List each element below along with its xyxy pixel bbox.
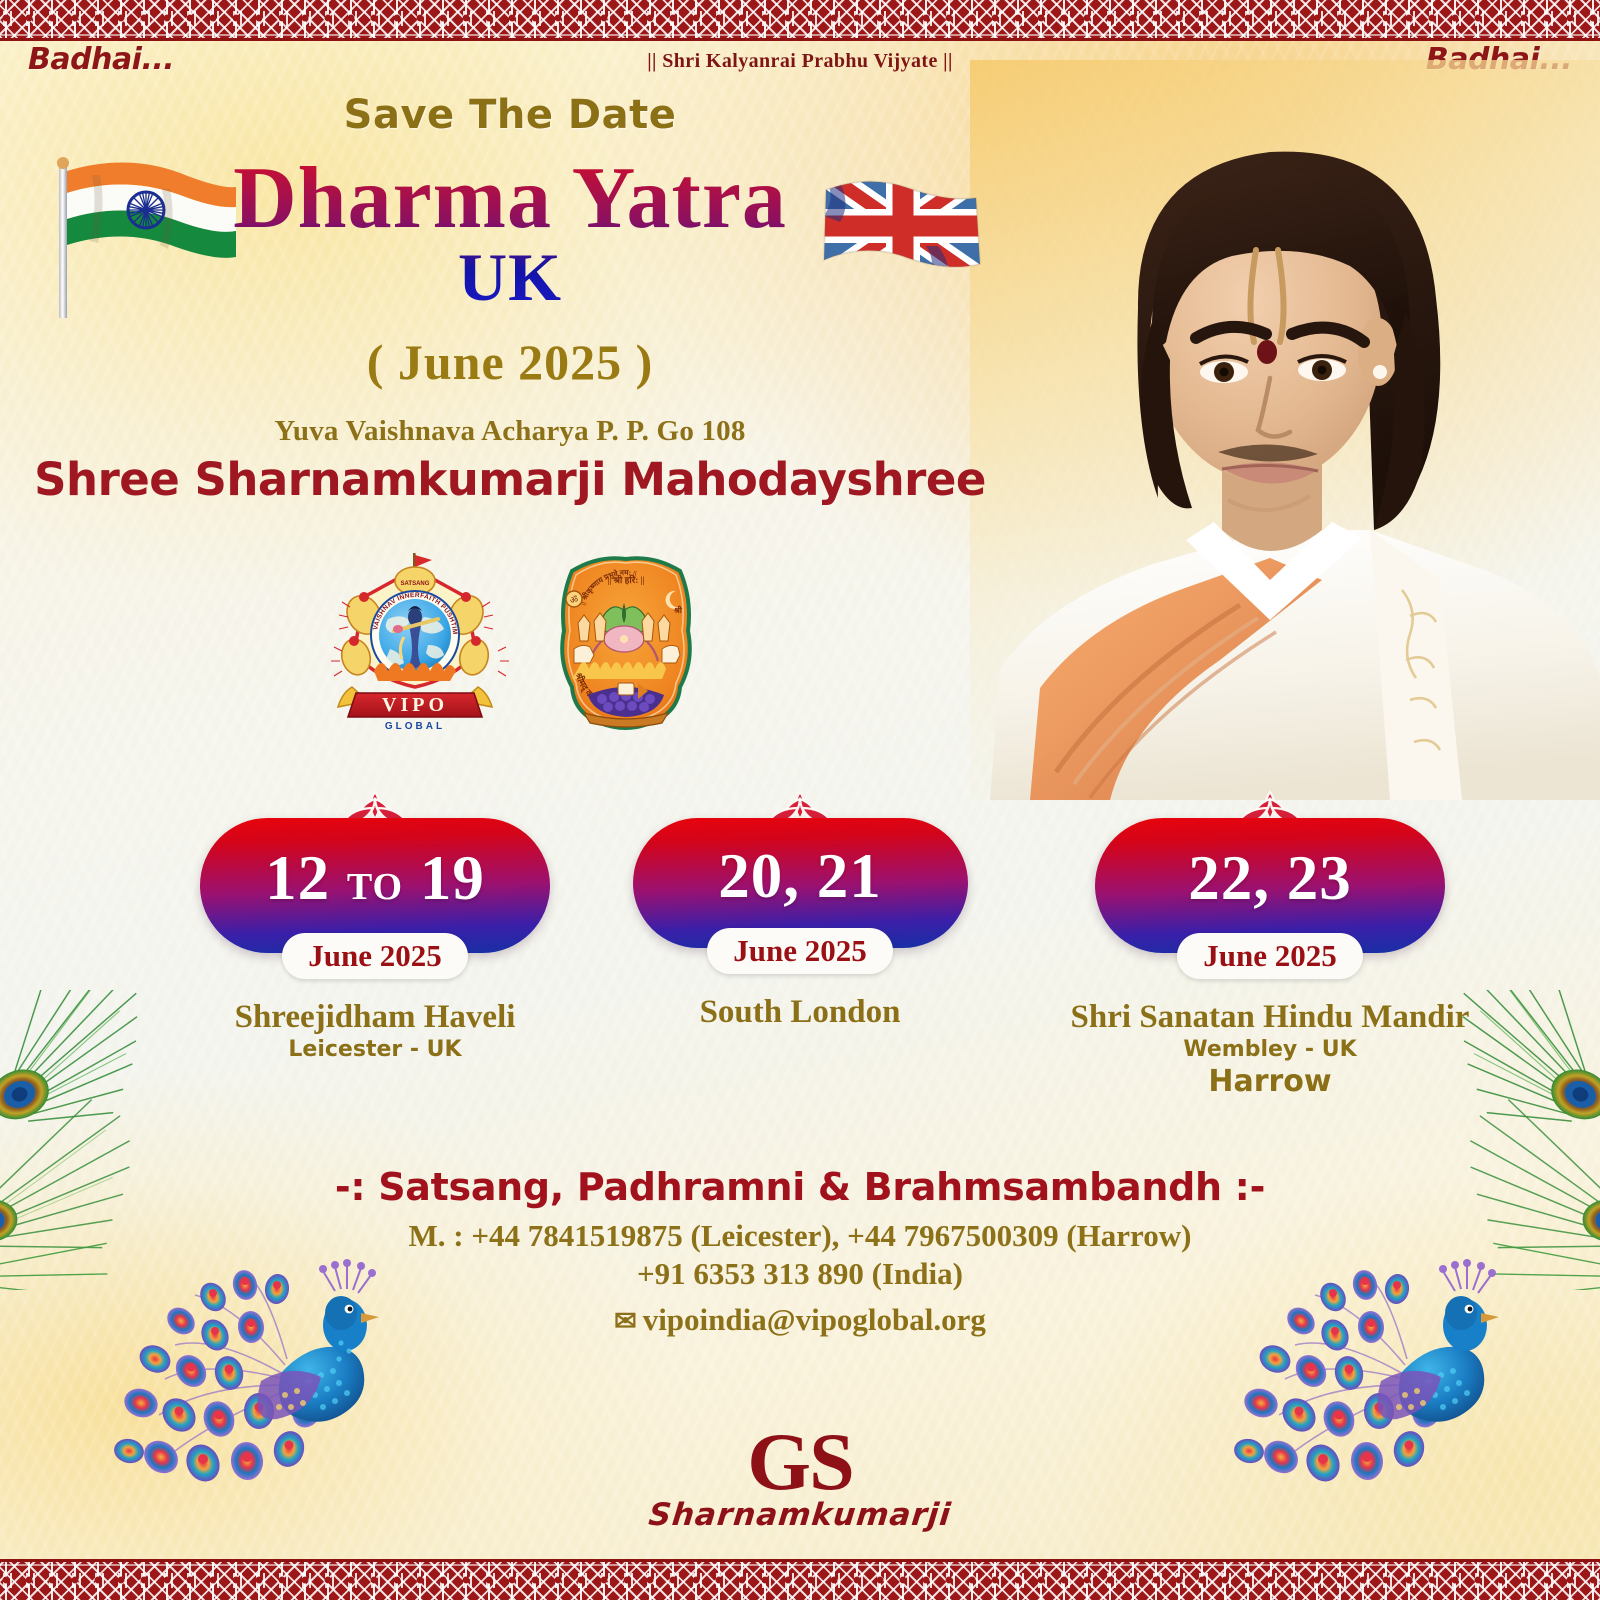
gs-monogram: GS [0, 1425, 1600, 1499]
title-main: Dharma Yatra [233, 150, 787, 247]
venue-city: Wembley - UK [1010, 1037, 1530, 1062]
poster-canvas: Badhai... Badhai... || Shri Kalyanrai Pr… [0, 0, 1600, 1600]
venue-name: Shri Sanatan Hindu Mandir [1010, 999, 1530, 1035]
border-dot-pattern [0, 1575, 1600, 1586]
svg-text:श्री: श्री [673, 605, 683, 615]
date-range: 22, 23 [1188, 847, 1352, 910]
top-border-band [0, 0, 1600, 41]
date-range: 20, 21 [718, 845, 882, 908]
event-card[interactable]: 12 TO 19 June 2025 Shreejidham Haveli Le… [125, 790, 625, 1062]
event-card[interactable]: 22, 23 June 2025 Shri Sanatan Hindu Mand… [1010, 790, 1530, 1099]
venue-city: Leicester - UK [125, 1037, 625, 1062]
date-start: 12 [265, 843, 330, 913]
border-inner-line [0, 34, 1600, 36]
venue-name: South London [590, 994, 1010, 1030]
envelope-icon: ✉ [614, 1306, 637, 1336]
guru-portrait-photo [970, 60, 1600, 800]
date-start: 20, 21 [718, 841, 882, 911]
contact-email-row[interactable]: ✉vipoindia@vipoglobal.org [0, 1302, 1600, 1338]
month-chip: June 2025 [1177, 933, 1363, 979]
border-inner-line [0, 1564, 1600, 1566]
contact-title: -: Satsang, Padhramni & Brahmsambandh :- [0, 1165, 1600, 1209]
month-chip: June 2025 [707, 928, 893, 974]
contact-block: -: Satsang, Padhramni & Brahmsambandh :-… [0, 1165, 1600, 1338]
date-end: 19 [420, 843, 485, 913]
venue-name: Shreejidham Haveli [125, 999, 625, 1035]
signature-name: Sharnamkumarji [0, 1497, 1600, 1533]
svg-text:GLOBAL: GLOBAL [385, 721, 445, 732]
vipo-global-emblem: VAISHNAV INNERFAITH PUSHTIMARGIYA ORGANI… [290, 545, 509, 732]
acharya-title: Yuva Vaishnava Acharya P. P. Go 108 [0, 415, 1020, 448]
event-date-cards: 12 TO 19 June 2025 Shreejidham Haveli Le… [0, 790, 1600, 1090]
venue-extra: Harrow [1010, 1064, 1530, 1099]
event-card[interactable]: 20, 21 June 2025 South London [590, 790, 1010, 1030]
svg-text:ॐ: ॐ [570, 595, 578, 605]
date-range: 12 TO 19 [265, 847, 485, 910]
contact-email[interactable]: vipoindia@vipoglobal.org [643, 1302, 986, 1337]
border-dot-pattern [0, 13, 1600, 24]
date-start: 22, 23 [1188, 843, 1352, 913]
svg-text:VIPO: VIPO [382, 694, 448, 716]
signature-block: GS Sharnamkumarji [0, 1425, 1600, 1533]
guru-name: Shree Sharnamkumarji Mahodayshree [0, 453, 1020, 506]
emblem-row: VAISHNAV INNERFAITH PUSHTIMARGIYA ORGANI… [290, 545, 750, 770]
title-sub: UK [0, 244, 1020, 311]
save-the-date-label: Save The Date [0, 92, 1020, 138]
date-separator: TO [347, 866, 403, 908]
contact-phones-uk[interactable]: M. : +44 7841519875 (Leicester), +44 796… [0, 1218, 1600, 1254]
event-month-year: ( June 2025 ) [0, 333, 1020, 391]
vallabhacharya-peeth-emblem: || श्री हरि: || || श्रीकृष्णाय प्रभुवे न… [562, 558, 690, 728]
headline-block: Save The Date Dharma Yatra UK ( June 202… [0, 92, 1020, 506]
svg-text:SATSANG: SATSANG [401, 581, 430, 587]
month-chip: June 2025 [282, 933, 468, 979]
page-title: Dharma Yatra UK [0, 156, 1020, 311]
bottom-border-band [0, 1559, 1600, 1600]
contact-phone-india[interactable]: +91 6353 313 890 (India) [0, 1256, 1600, 1292]
